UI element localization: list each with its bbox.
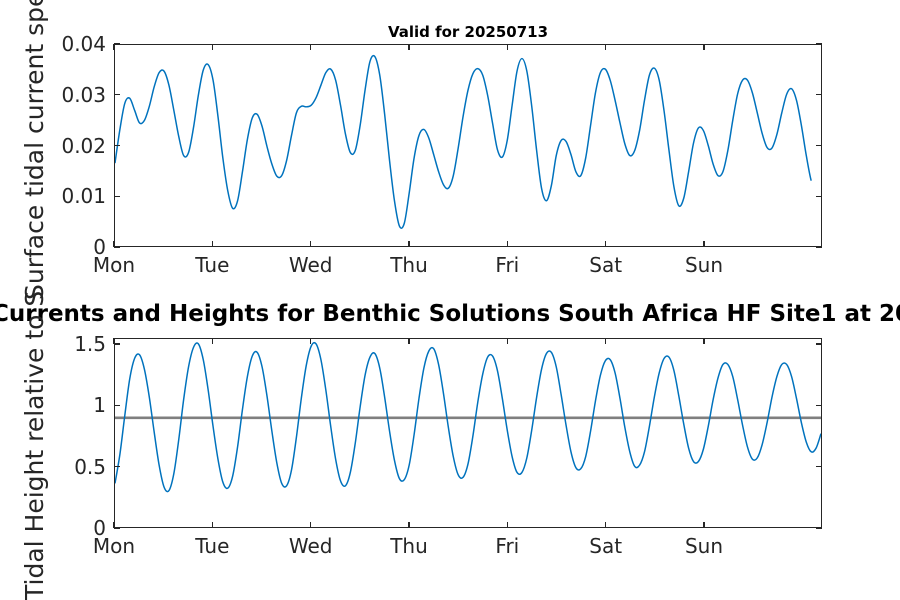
x-tick-mark [605, 338, 606, 344]
top-axes [114, 44, 822, 247]
x-tick-mark [408, 44, 409, 50]
page-title: Currents and Heights for Benthic Solutio… [0, 303, 900, 326]
x-tick-mark [113, 338, 114, 344]
y-tick-mark [816, 466, 822, 467]
x-tick-mark [310, 338, 311, 344]
y-tick-mark [114, 466, 120, 467]
y-tick-mark [114, 246, 120, 247]
y-tick-label: 0.02 [0, 136, 106, 156]
x-tick-mark [212, 522, 213, 528]
x-tick-mark [507, 522, 508, 528]
y-tick-mark [114, 196, 120, 197]
x-tick-mark [310, 522, 311, 528]
x-tick-mark [113, 522, 114, 528]
x-tick-label: Sat [561, 536, 651, 556]
x-tick-label: Fri [462, 536, 552, 556]
y-tick-mark [816, 43, 822, 44]
x-tick-label: Mon [69, 536, 159, 556]
bottom-plot-area [115, 339, 821, 527]
x-tick-mark [507, 338, 508, 344]
x-tick-mark [310, 241, 311, 247]
x-tick-mark [212, 241, 213, 247]
y-tick-mark [816, 196, 822, 197]
x-tick-label: Mon [69, 255, 159, 275]
x-tick-mark [605, 522, 606, 528]
x-tick-mark [605, 241, 606, 247]
x-tick-label: Fri [462, 255, 552, 275]
x-tick-label: Thu [364, 255, 454, 275]
y-tick-mark [816, 527, 822, 528]
y-tick-mark [816, 246, 822, 247]
x-tick-mark [113, 44, 114, 50]
bottom-axes [114, 338, 822, 528]
y-tick-mark [816, 405, 822, 406]
x-tick-label: Tue [167, 255, 257, 275]
x-tick-mark [703, 338, 704, 344]
x-tick-mark [507, 241, 508, 247]
x-tick-mark [605, 44, 606, 50]
x-tick-mark [408, 241, 409, 247]
y-tick-mark [816, 145, 822, 146]
x-tick-mark [703, 44, 704, 50]
y-tick-mark [114, 405, 120, 406]
y-tick-mark [114, 527, 120, 528]
x-tick-mark [408, 338, 409, 344]
y-tick-mark [816, 343, 822, 344]
y-tick-mark [114, 343, 120, 344]
top-plot-area [115, 45, 821, 246]
x-tick-mark [212, 338, 213, 344]
y-tick-label: 0.04 [0, 34, 106, 54]
tidal-figure: Valid for 20250713 Surface tidal current… [0, 0, 900, 600]
y-tick-label: 0 [0, 237, 106, 257]
x-tick-mark [507, 44, 508, 50]
x-tick-mark [310, 44, 311, 50]
top-subplot-title: Valid for 20250713 [114, 25, 822, 40]
y-tick-mark [114, 145, 120, 146]
x-tick-label: Sun [659, 255, 749, 275]
x-tick-label: Thu [364, 536, 454, 556]
x-tick-mark [212, 44, 213, 50]
y-tick-mark [114, 94, 120, 95]
x-tick-label: Sun [659, 536, 749, 556]
x-tick-mark [703, 241, 704, 247]
x-tick-label: Sat [561, 255, 651, 275]
y-tick-mark [114, 43, 120, 44]
y-tick-label: 1.5 [0, 334, 106, 354]
y-tick-label: 0.5 [0, 457, 106, 477]
x-tick-label: Wed [266, 536, 356, 556]
x-tick-mark [703, 522, 704, 528]
x-tick-label: Tue [167, 536, 257, 556]
x-tick-mark [408, 522, 409, 528]
y-tick-mark [816, 94, 822, 95]
y-tick-label: 1 [0, 395, 106, 415]
y-tick-label: 0.01 [0, 186, 106, 206]
x-tick-mark [113, 241, 114, 247]
y-tick-label: 0 [0, 518, 106, 538]
y-tick-label: 0.03 [0, 85, 106, 105]
x-tick-label: Wed [266, 255, 356, 275]
data-series-line [115, 56, 811, 229]
